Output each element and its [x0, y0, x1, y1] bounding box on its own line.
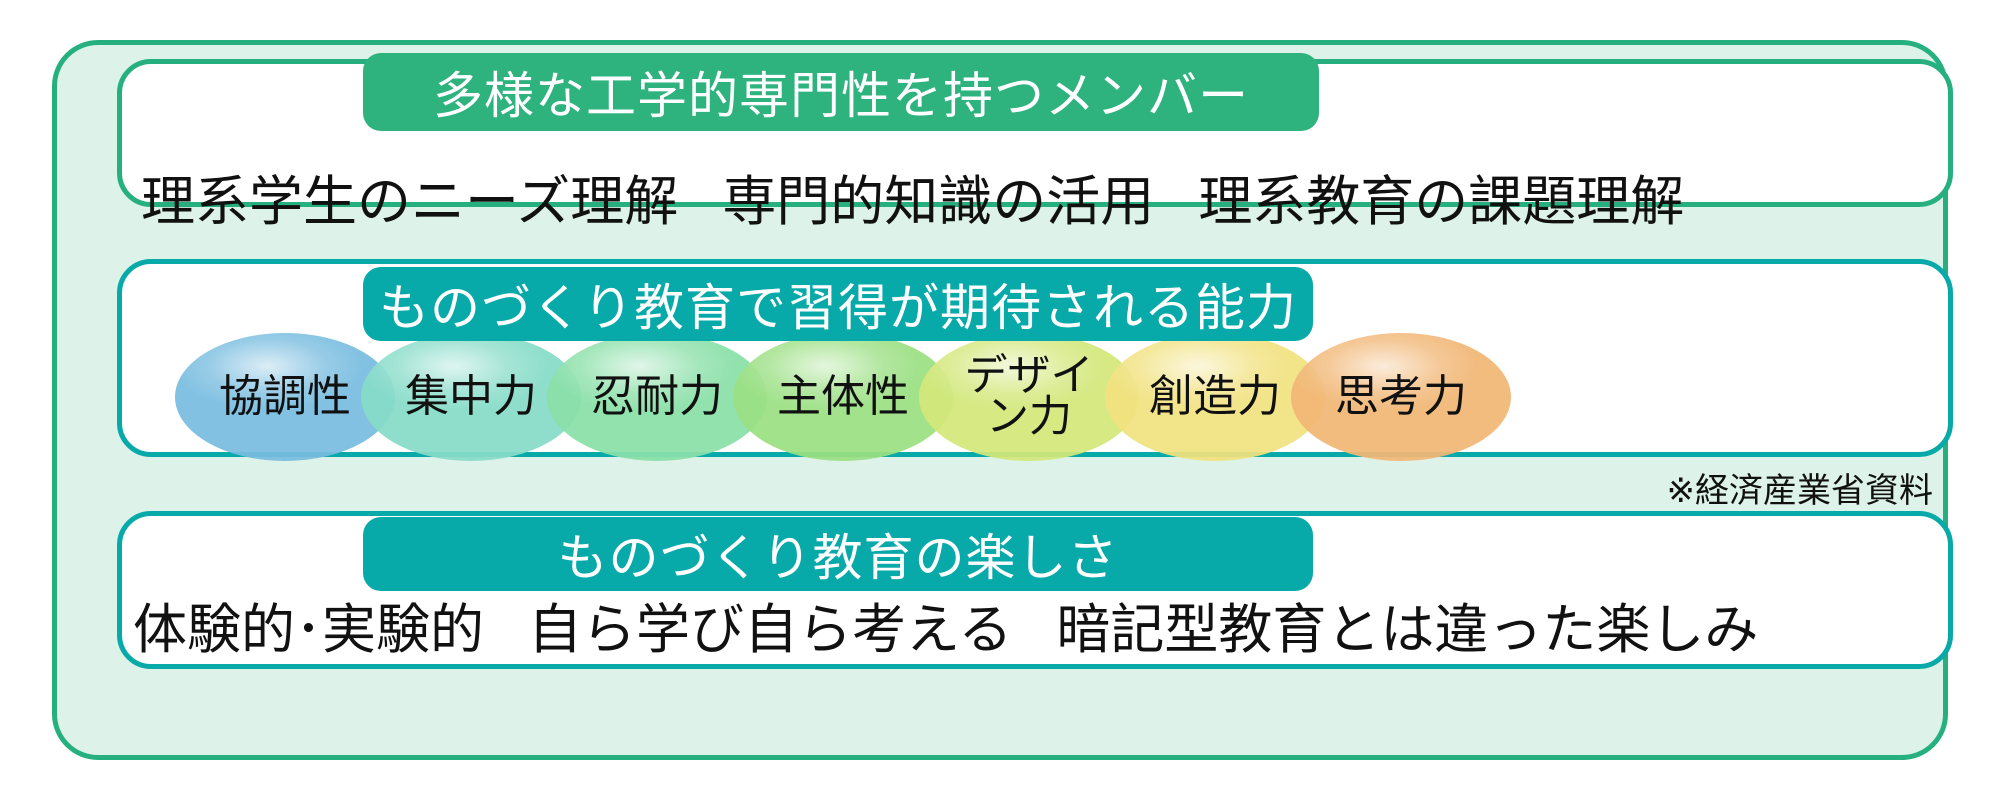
skill-bubble-label: 思考力	[1331, 376, 1471, 418]
fun-item-1: 自ら学び自ら考える	[528, 585, 1012, 664]
members-item-2: 理系教育の課題理解	[1198, 157, 1684, 236]
fun-header-label: ものづくり教育の楽しさ	[558, 518, 1119, 590]
skill-bubble-label: 協調性	[215, 376, 355, 418]
skill-bubble-label: 主体性	[773, 376, 913, 418]
skill-bubble-label: 創造力	[1145, 376, 1285, 418]
members-items-row: 理系学生のニーズ理解 専門的知識の活用 理系教育の課題理解	[141, 157, 1684, 236]
skill-bubble-label: 集中力	[401, 376, 541, 418]
fun-item-0: 体験的･実験的	[133, 585, 484, 664]
skill-bubble-label: デザイン力	[959, 356, 1099, 438]
outer-frame: 多様な工学的専門性を持つメンバー 理系学生のニーズ理解 専門的知識の活用 理系教…	[52, 40, 1948, 760]
skill-bubble: 思考力	[1291, 333, 1511, 461]
fun-items-row: 体験的･実験的 自ら学び自ら考える 暗記型教育とは違った楽しみ	[133, 585, 1758, 664]
skills-section-header: ものづくり教育で習得が期待される能力	[363, 267, 1313, 341]
members-item-1: 専門的知識の活用	[722, 157, 1154, 236]
skill-bubble-group: 協調性集中力忍耐力主体性デザイン力創造力思考力	[175, 333, 1515, 461]
skills-header-label: ものづくり教育で習得が期待される能力	[379, 268, 1297, 340]
fun-item-2: 暗記型教育とは違った楽しみ	[1056, 585, 1758, 664]
skill-bubble-label: 忍耐力	[587, 376, 727, 418]
members-section-header: 多様な工学的専門性を持つメンバー	[363, 53, 1319, 131]
diagram-canvas: 多様な工学的専門性を持つメンバー 理系学生のニーズ理解 専門的知識の活用 理系教…	[0, 0, 2000, 801]
fun-section-header: ものづくり教育の楽しさ	[363, 517, 1313, 591]
members-item-0: 理系学生のニーズ理解	[141, 157, 678, 236]
members-header-label: 多様な工学的専門性を持つメンバー	[433, 56, 1249, 128]
source-attribution: ※経済産業省資料	[1667, 463, 1934, 512]
